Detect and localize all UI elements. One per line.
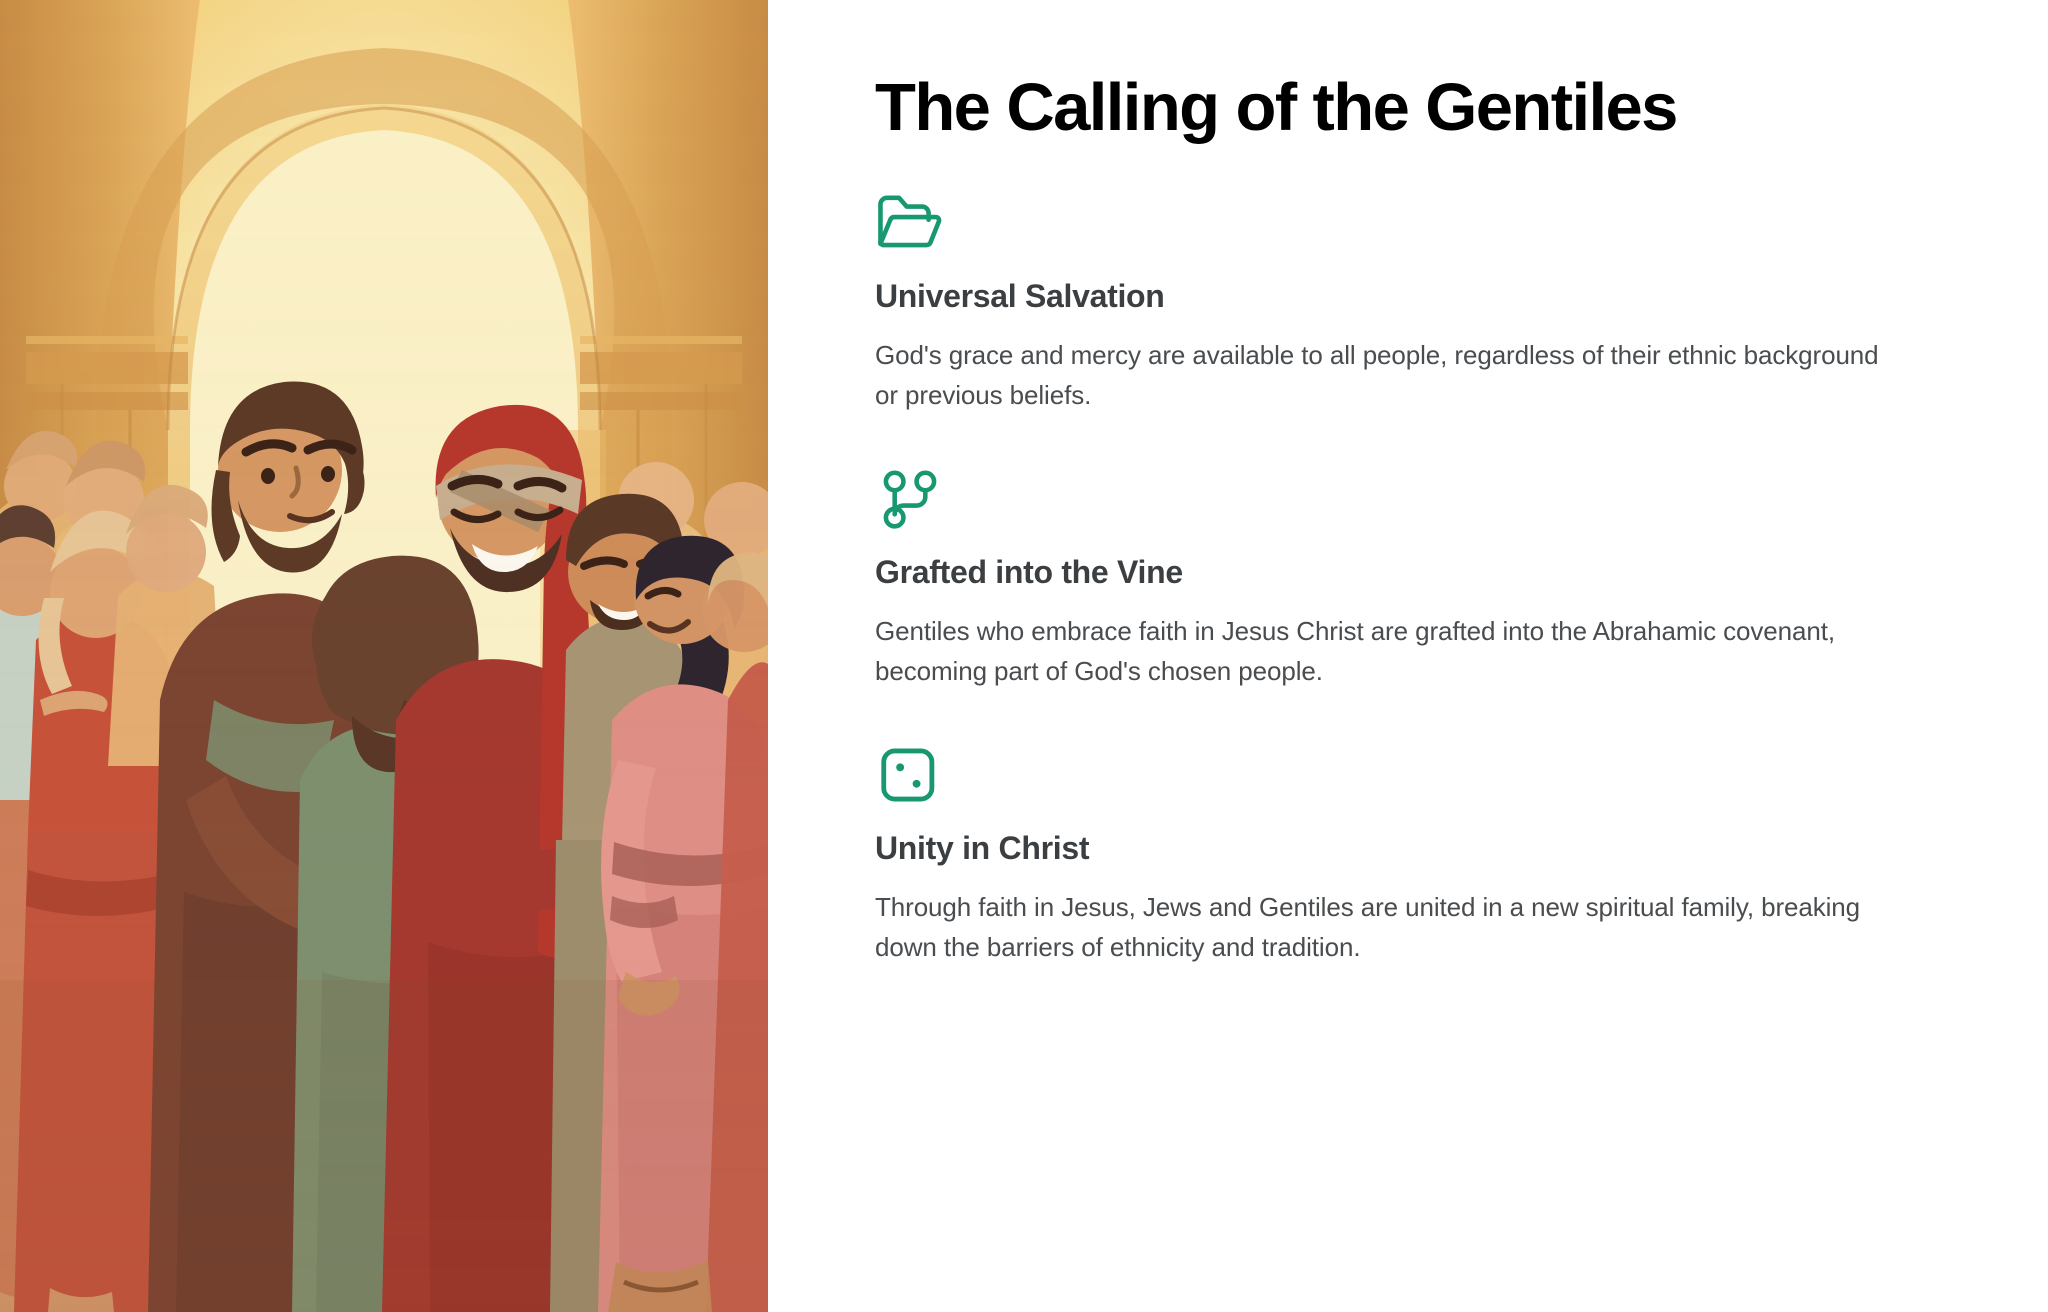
section-heading: Unity in Christ: [875, 830, 1898, 867]
section-body: Through faith in Jesus, Jews and Gentile…: [875, 888, 1898, 967]
page-title: The Calling of the Gentiles: [875, 72, 1898, 144]
page-root: The Calling of the Gentiles Universal Sa…: [0, 0, 2048, 1312]
folder-open-icon: [875, 192, 945, 254]
section-body: God's grace and mercy are available to a…: [875, 336, 1898, 415]
section-body: Gentiles who embrace faith in Jesus Chri…: [875, 612, 1898, 691]
section-unity-in-christ: Unity in Christ Through faith in Jesus, …: [875, 744, 1898, 967]
section-heading: Grafted into the Vine: [875, 554, 1898, 591]
illustration-artwork: [0, 0, 768, 1312]
content-panel: The Calling of the Gentiles Universal Sa…: [768, 0, 2048, 1312]
section-heading: Universal Salvation: [875, 278, 1898, 315]
dice-two-icon: [875, 744, 945, 806]
illustration-panel: [0, 0, 768, 1312]
section-grafted-into-the-vine: Grafted into the Vine Gentiles who embra…: [875, 468, 1898, 691]
section-universal-salvation: Universal Salvation God's grace and merc…: [875, 192, 1898, 415]
git-branch-icon: [875, 468, 945, 530]
